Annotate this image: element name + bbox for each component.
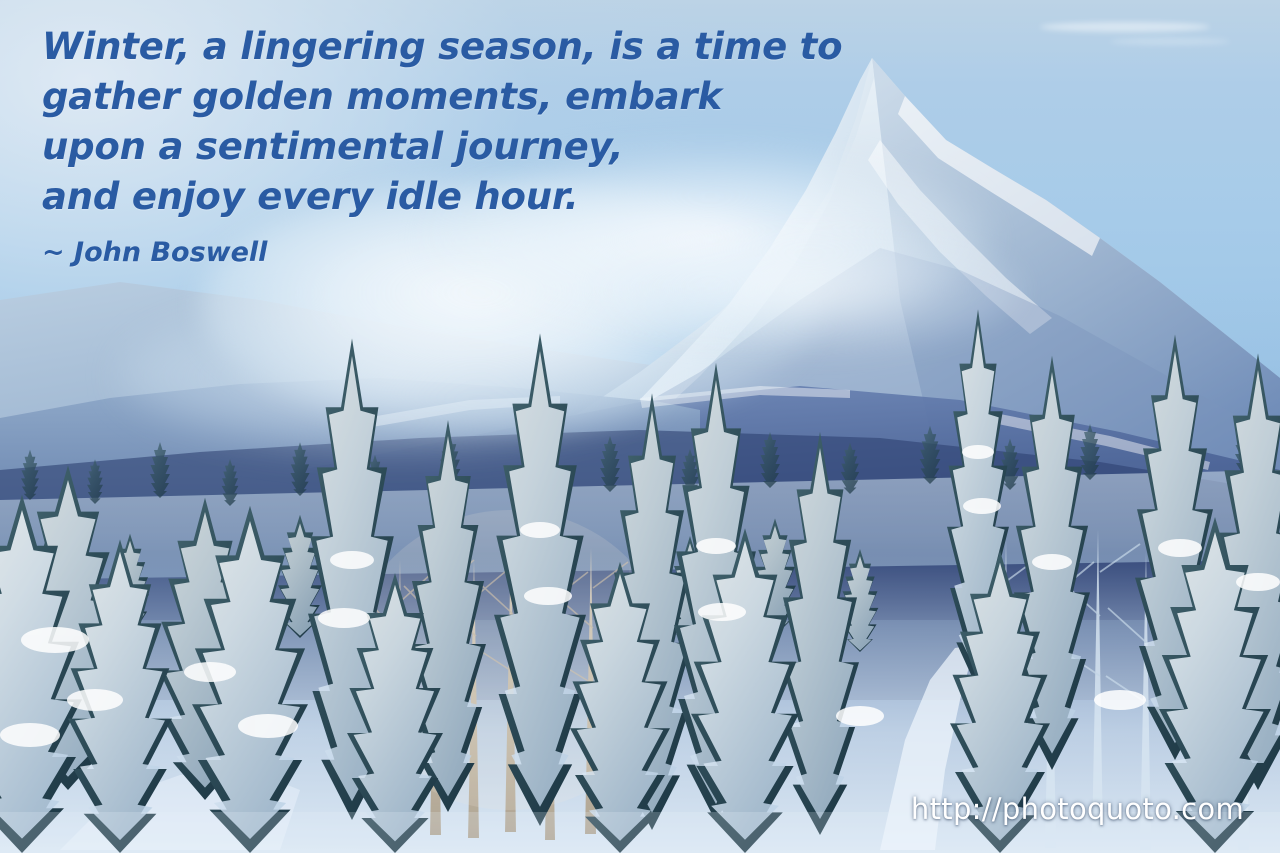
quote-attribution: ~ John Boswell <box>42 236 802 270</box>
photo-quote-image: Winter, a lingering season, is a time to… <box>0 0 1280 853</box>
quote-line-4: and enjoy every idle hour. <box>42 172 802 222</box>
quote-text-block: Winter, a lingering season, is a time to… <box>42 22 802 270</box>
quote-line-2: gather golden moments, embark <box>42 72 802 122</box>
quote-line-3: upon a sentimental journey, <box>42 122 802 172</box>
watermark-url: http://photoquoto.com <box>911 792 1244 826</box>
quote-line-1: Winter, a lingering season, is a time to <box>42 22 802 72</box>
